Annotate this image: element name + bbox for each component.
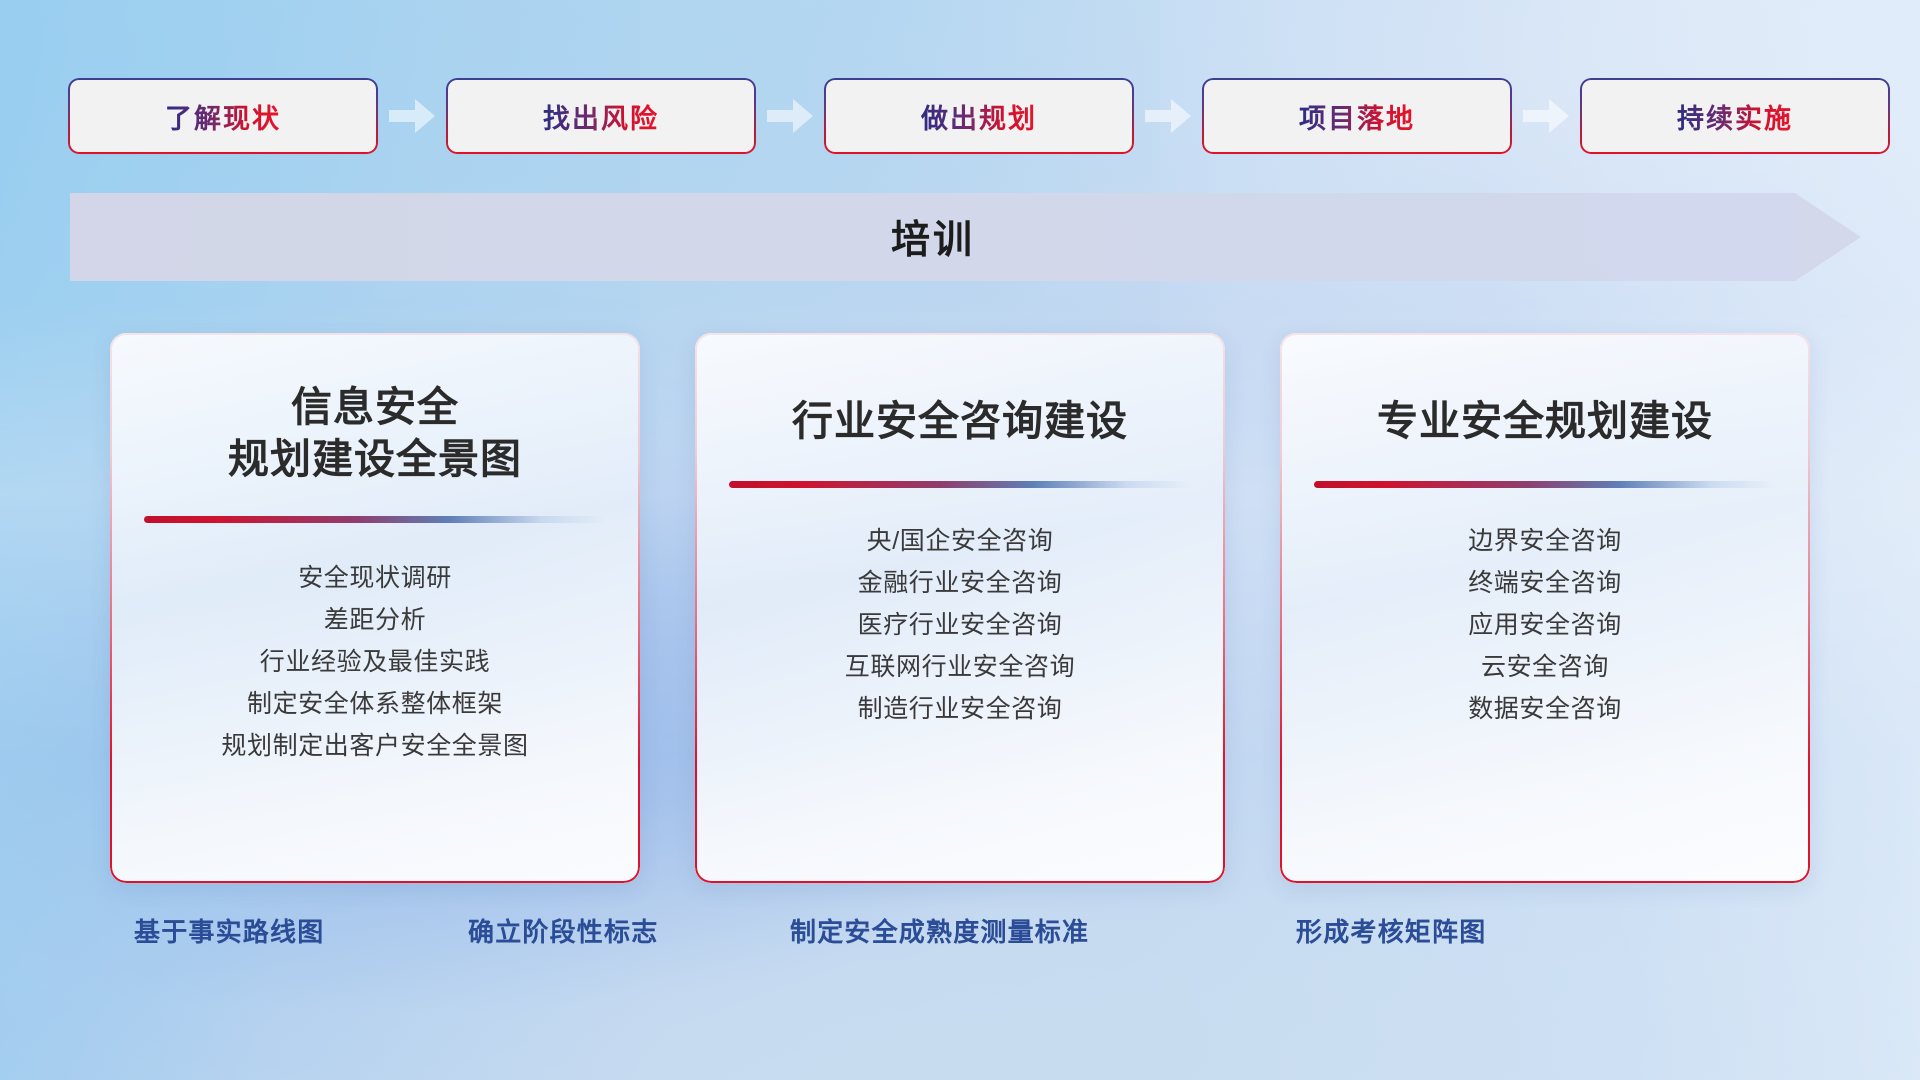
step-box-understand-status[interactable]: 了解现状	[70, 80, 376, 152]
footnote-roadmap: 基于事实路线图	[134, 912, 324, 949]
step-label: 项目落地	[1299, 97, 1415, 136]
step-label: 找出风险	[543, 97, 659, 136]
card-professional-security-planning[interactable]: 专业安全规划建设 边界安全咨询 终端安全咨询 应用安全咨询 云安全咨询 数据安全…	[1280, 333, 1810, 883]
process-step-1: 了解现状	[70, 80, 376, 152]
list-item: 行业经验及最佳实践	[110, 641, 640, 683]
list-item: 互联网行业安全咨询	[695, 646, 1225, 688]
card-divider	[1314, 481, 1776, 488]
card-item-list: 安全现状调研 差距分析 行业经验及最佳实践 制定安全体系整体框架 规划制定出客户…	[110, 557, 640, 767]
list-item: 云安全咨询	[1280, 646, 1810, 688]
list-item: 安全现状调研	[110, 557, 640, 599]
footnote-matrix: 形成考核矩阵图	[1296, 912, 1486, 949]
step-box-find-risk[interactable]: 找出风险	[448, 80, 754, 152]
footnote-milestone: 确立阶段性标志	[468, 912, 658, 949]
step-box-project-landing[interactable]: 项目落地	[1204, 80, 1510, 152]
process-step-3: 做出规划	[826, 80, 1132, 152]
slide-stage: 了解现状 找出风险 做出规划 项目落地	[0, 0, 1920, 1080]
list-item: 医疗行业安全咨询	[695, 604, 1225, 646]
list-item: 规划制定出客户安全全景图	[110, 725, 640, 767]
list-item: 制定安全体系整体框架	[110, 683, 640, 725]
card-item-list: 央/国企安全咨询 金融行业安全咨询 医疗行业安全咨询 互联网行业安全咨询 制造行…	[695, 520, 1225, 730]
list-item: 差距分析	[110, 599, 640, 641]
training-banner: 培训	[70, 193, 1860, 281]
card-title: 行业安全咨询建设	[695, 333, 1225, 447]
list-item: 央/国企安全咨询	[695, 520, 1225, 562]
card-divider	[729, 481, 1191, 488]
card-title: 信息安全 规划建设全景图	[110, 333, 640, 486]
list-item: 终端安全咨询	[1280, 562, 1810, 604]
card-industry-security-consulting[interactable]: 行业安全咨询建设 央/国企安全咨询 金融行业安全咨询 医疗行业安全咨询 互联网行…	[695, 333, 1225, 883]
banner-title: 培训	[70, 193, 1860, 281]
arrow-right-icon	[1145, 99, 1191, 133]
step-box-continuous-implementation[interactable]: 持续实施	[1582, 80, 1888, 152]
arrow-right-icon	[767, 99, 813, 133]
step-label: 了解现状	[165, 97, 281, 136]
list-item: 数据安全咨询	[1280, 688, 1810, 730]
list-item: 边界安全咨询	[1280, 520, 1810, 562]
step-label: 持续实施	[1677, 97, 1793, 136]
list-item: 应用安全咨询	[1280, 604, 1810, 646]
process-step-row: 了解现状 找出风险 做出规划 项目落地	[70, 80, 1850, 152]
footnote-row: 基于事实路线图 确立阶段性标志 制定安全成熟度测量标准 形成考核矩阵图	[0, 912, 1920, 972]
process-step-5: 持续实施	[1582, 80, 1888, 152]
arrow-right-icon	[1523, 99, 1569, 133]
step-box-make-plan[interactable]: 做出规划	[826, 80, 1132, 152]
footnote-maturity: 制定安全成熟度测量标准	[790, 912, 1089, 949]
list-item: 金融行业安全咨询	[695, 562, 1225, 604]
card-information-security-panorama[interactable]: 信息安全 规划建设全景图 安全现状调研 差距分析 行业经验及最佳实践 制定安全体…	[110, 333, 640, 883]
card-row: 信息安全 规划建设全景图 安全现状调研 差距分析 行业经验及最佳实践 制定安全体…	[110, 333, 1810, 883]
card-divider	[144, 516, 606, 523]
arrow-right-icon	[389, 99, 435, 133]
card-title: 专业安全规划建设	[1280, 333, 1810, 447]
card-item-list: 边界安全咨询 终端安全咨询 应用安全咨询 云安全咨询 数据安全咨询	[1280, 520, 1810, 730]
process-step-4: 项目落地	[1204, 80, 1510, 152]
list-item: 制造行业安全咨询	[695, 688, 1225, 730]
step-label: 做出规划	[921, 97, 1037, 136]
process-step-2: 找出风险	[448, 80, 754, 152]
